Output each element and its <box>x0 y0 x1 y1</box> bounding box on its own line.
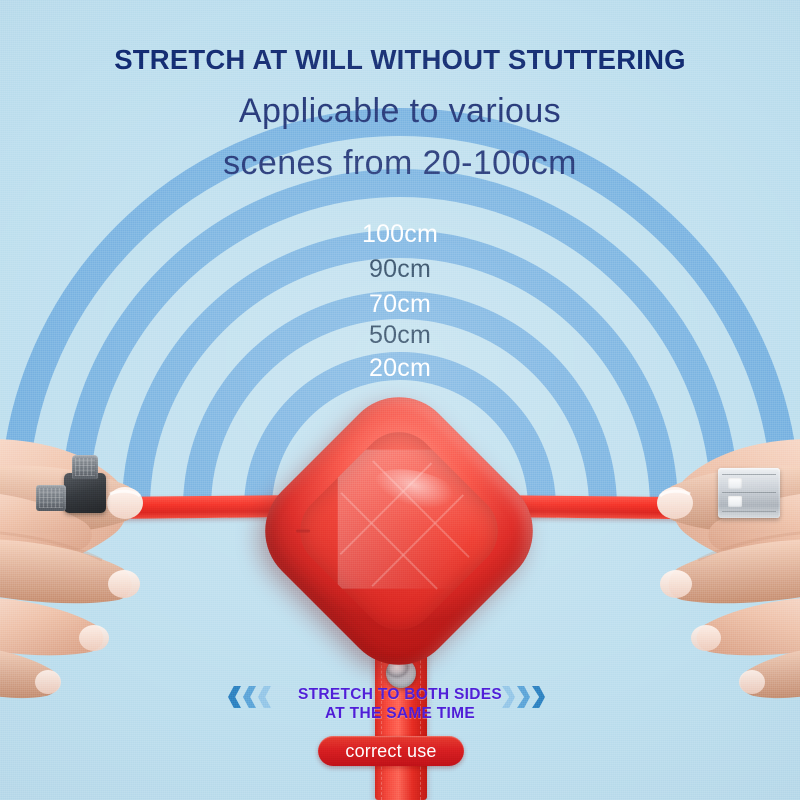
correct-use-badge: correct use <box>318 736 464 766</box>
correct-use-badge-label: correct use <box>345 741 436 762</box>
subtitle-line-1: Applicable to various <box>0 92 800 131</box>
type-c-tip-icon <box>72 455 98 479</box>
retractable-cable-spool <box>288 420 510 642</box>
usb-a-housing <box>718 468 780 518</box>
micro-usb-tip-icon <box>36 485 66 511</box>
window-reflection <box>284 416 513 645</box>
page-title: STRETCH AT WILL WITHOUT STUTTERING <box>0 44 800 76</box>
caption-line-1: STRETCH TO BOTH SIDES <box>0 686 800 704</box>
connector-housing <box>64 473 106 513</box>
subtitle-line-2: scenes from 20-100cm <box>0 144 800 183</box>
type-c-micro-usb-connector <box>36 455 126 535</box>
product-marketing-image: STRETCH AT WILL WITHOUT STUTTERING Appli… <box>0 0 800 800</box>
caption-line-2: AT THE SAME TIME <box>0 705 800 723</box>
usb-a-connector <box>718 468 780 518</box>
